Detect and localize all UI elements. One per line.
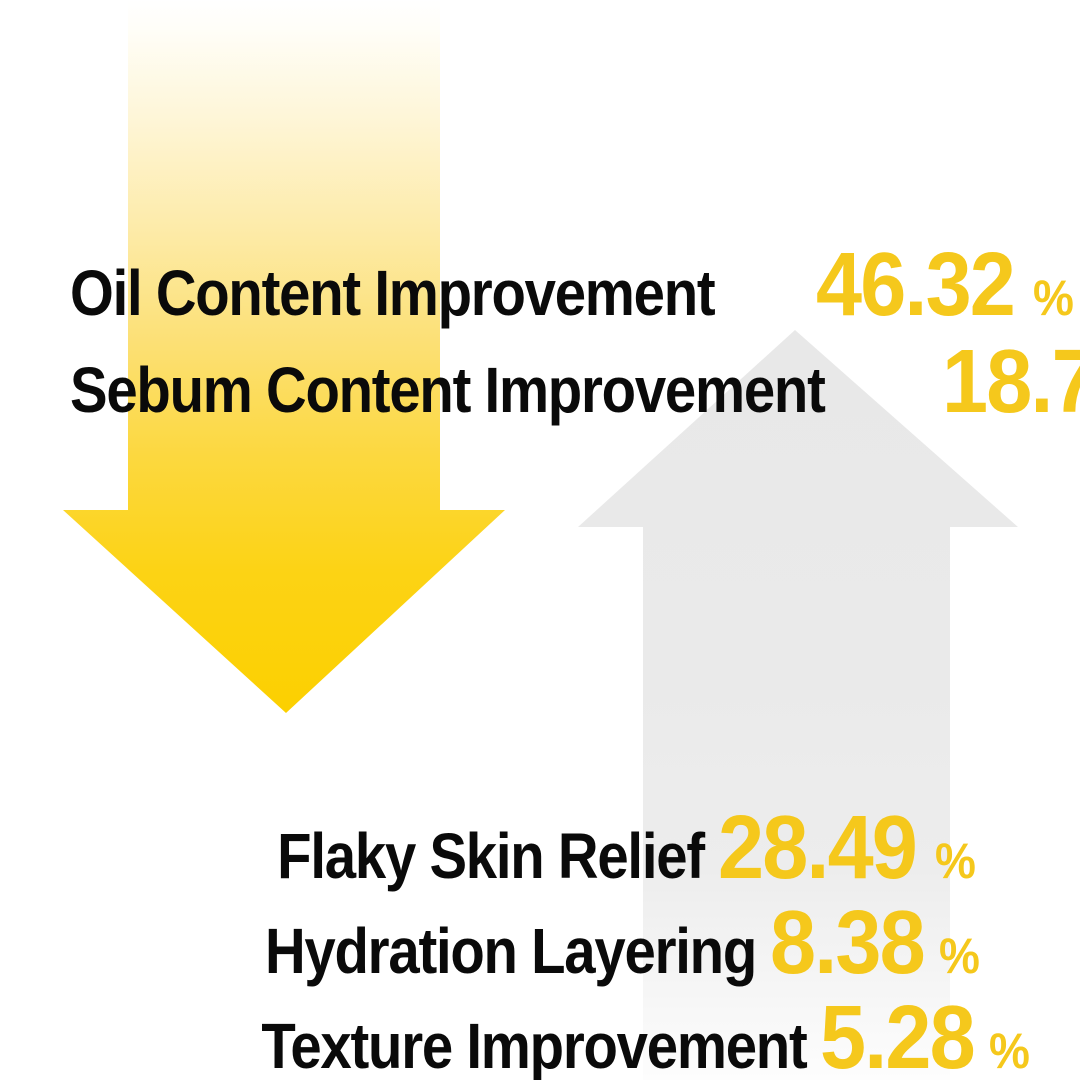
percent-sign: % [939,931,979,981]
metric-value: 18.76 [942,337,1080,427]
infographic-canvas: Oil Content Improvement 46.32 % Sebum Co… [0,0,1080,1080]
metric-row-oil-content: Oil Content Improvement 46.32 % [70,240,1076,330]
percent-sign: % [935,836,975,886]
metric-row-sebum-content: Sebum Content Improvement 18.76 % [70,337,1080,427]
metric-row-flaky-skin-relief: Flaky Skin Relief 28.49 % [317,803,978,893]
metric-label: Oil Content Improvement [70,261,714,325]
metric-label: Texture Improvement [261,1014,806,1078]
metric-value: 28.49 [718,803,916,893]
metric-value: 5.28 [820,993,974,1080]
metric-label: Hydration Layering [265,919,756,983]
percent-sign: % [989,1026,1029,1076]
metric-value: 46.32 [816,240,1014,330]
metric-label: Flaky Skin Relief [278,824,705,888]
metric-label: Sebum Content Improvement [70,358,825,422]
metric-row-texture-improvement: Texture Improvement 5.28 % [317,993,1032,1080]
percent-sign: % [1033,273,1073,323]
metric-value: 8.38 [770,898,924,988]
metric-row-hydration-layering: Hydration Layering 8.38 % [317,898,982,988]
